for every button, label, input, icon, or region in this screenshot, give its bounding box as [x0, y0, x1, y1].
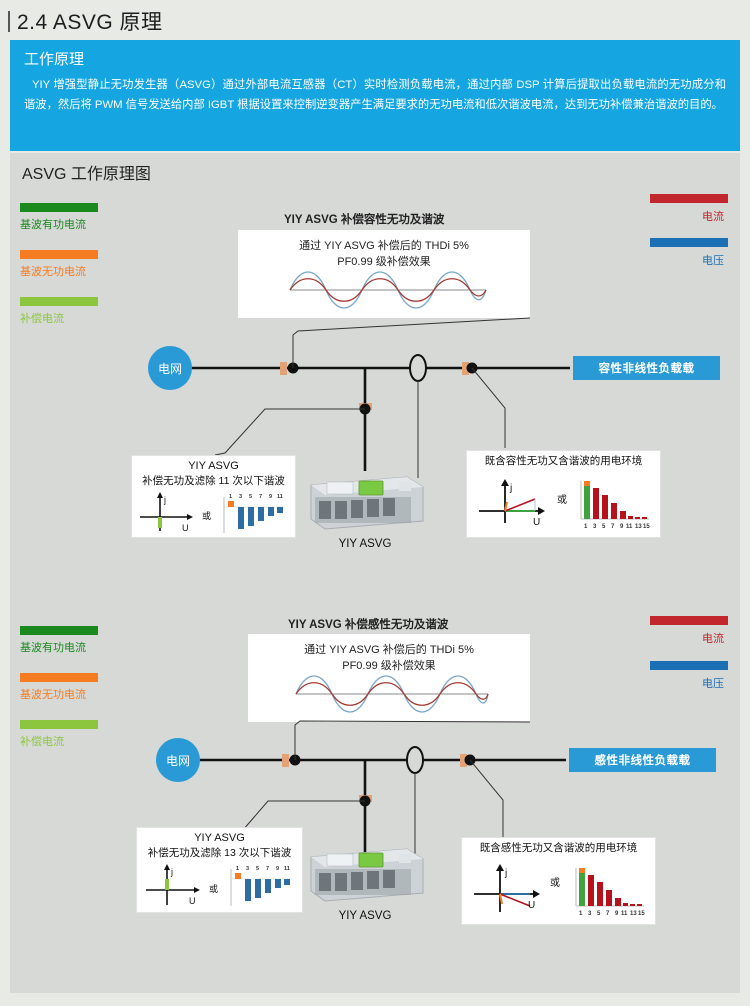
asvg-device-image-capacitive [303, 471, 427, 535]
grid-node-capacitive: 电网 [148, 346, 192, 390]
svg-text:15: 15 [643, 524, 650, 530]
svg-text:11: 11 [621, 911, 628, 917]
asvg-device-label-inductive: YIY ASVG [305, 910, 425, 922]
svg-text:13: 13 [630, 911, 637, 917]
page-title: 2.4 ASVG 原理 [8, 6, 163, 36]
inset-asvg-output-capacitive: YIY ASVG 补偿无功及滤除 11 次以下谐波 j U 或 135 [131, 455, 296, 538]
svg-text:1: 1 [584, 524, 588, 530]
inset-title-line1-inductive: YIY ASVG [137, 828, 302, 846]
inset-load-environment-inductive: 既含感性无功又含谐波的用电环境 j U 或 [461, 837, 656, 925]
inset-chart-load-capacitive: j U 或 135 7911 1315 [467, 469, 660, 535]
inset-title-load-inductive: 既含感性无功又含谐波的用电环境 [462, 838, 655, 856]
svg-text:13: 13 [635, 524, 642, 530]
svg-text:或: 或 [550, 877, 560, 889]
inset-load-environment-capacitive: 既含容性无功又含谐波的用电环境 j U 或 [466, 450, 661, 538]
svg-text:3: 3 [593, 524, 597, 530]
svg-text:5: 5 [597, 911, 601, 917]
grid-node-inductive: 电网 [156, 738, 200, 782]
single-line-diagram-inductive [10, 573, 740, 993]
svg-text:15: 15 [638, 911, 645, 917]
svg-text:5: 5 [602, 524, 606, 530]
svg-text:7: 7 [611, 524, 615, 530]
svg-text:U: U [189, 896, 196, 906]
inset-chart-asvg-output-inductive: j U 或 135 7911 [137, 861, 302, 911]
inset-asvg-output-inductive: YIY ASVG 补偿无功及滤除 13 次以下谐波 j U 或 135 [136, 827, 303, 913]
svg-text:11: 11 [277, 494, 283, 500]
svg-text:1: 1 [579, 911, 583, 917]
working-principle-card: 工作原理 YIY 增强型静止无功发生器（ASVG）通过外部电流互感器（CT）实时… [10, 40, 740, 151]
working-principle-body: YIY 增强型静止无功发生器（ASVG）通过外部电流互感器（CT）实时检测负载电… [24, 75, 726, 115]
svg-text:U: U [182, 523, 189, 533]
page-title-text: 2.4 ASVG 原理 [17, 6, 163, 36]
svg-text:7: 7 [259, 494, 262, 500]
svg-text:3: 3 [246, 866, 249, 872]
inset-title-line1-capacitive: YIY ASVG [132, 456, 295, 474]
asvg-device-image-inductive [303, 843, 427, 907]
svg-text:1: 1 [236, 866, 239, 872]
svg-text:U: U [533, 517, 540, 528]
inset-title-load-capacitive: 既含容性无功又含谐波的用电环境 [467, 451, 660, 469]
svg-text:j: j [509, 483, 512, 494]
title-accent-bar [8, 11, 10, 32]
svg-text:9: 9 [269, 494, 272, 500]
svg-text:或: 或 [209, 883, 218, 894]
svg-text:9: 9 [615, 911, 619, 917]
svg-text:j: j [504, 868, 507, 879]
svg-text:9: 9 [620, 524, 624, 530]
svg-text:5: 5 [249, 494, 252, 500]
inset-chart-load-inductive: j U 或 135 7911 1315 [462, 856, 655, 922]
svg-text:9: 9 [276, 866, 279, 872]
inset-title-line2-capacitive: 补偿无功及滤除 11 次以下谐波 [132, 474, 295, 489]
svg-text:3: 3 [588, 911, 592, 917]
load-box-inductive: 感性非线性负载载 [569, 748, 716, 772]
load-box-capacitive: 容性非线性负载载 [573, 356, 720, 380]
svg-text:j: j [163, 495, 166, 505]
inset-title-line2-inductive: 补偿无功及滤除 13 次以下谐波 [137, 846, 302, 861]
svg-text:或: 或 [202, 510, 211, 521]
svg-text:3: 3 [239, 494, 242, 500]
svg-text:或: 或 [557, 494, 567, 506]
svg-text:U: U [528, 900, 535, 911]
asvg-device-label-capacitive: YIY ASVG [305, 538, 425, 550]
svg-text:1: 1 [229, 494, 232, 500]
inset-chart-asvg-output-capacitive: j U 或 135 7911 [132, 489, 295, 537]
svg-text:j: j [170, 867, 173, 877]
svg-text:7: 7 [266, 866, 269, 872]
diagram-panel: ASVG 工作原理图 基波有功电流 基波无功电流 补偿电流 电流 电压 YIY … [10, 153, 740, 993]
working-principle-heading: 工作原理 [24, 48, 726, 69]
svg-text:7: 7 [606, 911, 610, 917]
svg-text:11: 11 [284, 866, 290, 872]
svg-text:11: 11 [626, 524, 633, 530]
svg-text:5: 5 [256, 866, 259, 872]
